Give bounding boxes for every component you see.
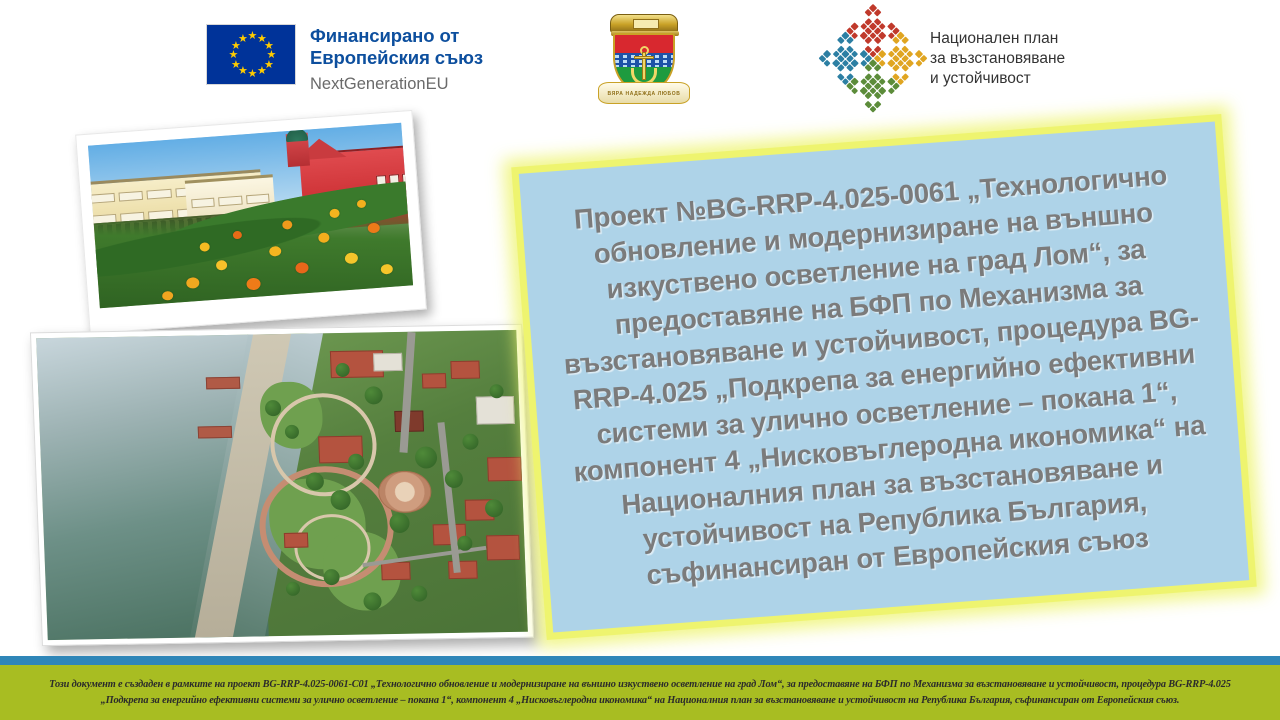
eu-star-icon: ★	[248, 32, 257, 41]
disclaimer-banner: Този документ е създаден в рамките на пр…	[0, 656, 1280, 720]
eu-star-icon: ★	[231, 61, 240, 70]
eu-star-icon: ★	[248, 70, 257, 79]
eu-star-icon: ★	[229, 51, 238, 60]
anchor-icon	[631, 46, 657, 86]
eu-star-icon: ★	[238, 35, 247, 44]
eu-funding-logo: ★★★★★★★★★★★★ Финансирано от Европейския …	[206, 24, 483, 95]
disclaimer-line2: „Подкрепа за енергийно ефективни системи…	[101, 693, 1180, 709]
eu-logo-line3: NextGenerationEU	[310, 73, 483, 95]
npvu-diamond-icon	[818, 4, 928, 114]
header-logo-row: ★★★★★★★★★★★★ Финансирано от Европейския …	[0, 0, 1280, 110]
npvu-line1: Национален план	[930, 29, 1065, 49]
eu-logo-line2: Европейския съюз	[310, 47, 483, 69]
town-square-image	[88, 123, 413, 309]
panel-body: Проект №BG-RRP-4.025-0061 „Технологично …	[519, 121, 1250, 632]
eu-logo-line1: Финансирано от	[310, 25, 483, 47]
presentation-slide: ★★★★★★★★★★★★ Финансирано от Европейския …	[0, 0, 1280, 720]
coa-column-capital	[610, 14, 678, 33]
npvu-logo-text: Национален план за възстановяване и усто…	[930, 29, 1065, 89]
lom-coat-of-arms-icon: ВЯРА НАДЕЖДА ЛЮБОВ	[596, 14, 692, 106]
eu-logo-text: Финансирано от Европейския съюз NextGene…	[310, 24, 483, 95]
project-description-text: Проект №BG-RRP-4.025-0061 „Технологично …	[535, 154, 1233, 599]
banner-body: Този документ е създаден в рамките на пр…	[0, 665, 1280, 720]
coa-motto-banner: ВЯРА НАДЕЖДА ЛЮБОВ	[598, 82, 690, 104]
eu-flag-icon: ★★★★★★★★★★★★	[206, 24, 296, 85]
aerial-riverside-photo	[30, 324, 534, 646]
aerial-riverside-image	[36, 330, 528, 640]
disclaimer-line1: Този документ е създаден в рамките на пр…	[49, 677, 1231, 693]
eu-star-icon: ★	[257, 67, 266, 76]
npvu-line3: и устойчивост	[930, 69, 1065, 89]
banner-blue-stripe	[0, 656, 1280, 665]
npvu-logo: Национален план за възстановяване и усто…	[834, 20, 1065, 98]
town-square-photo	[75, 110, 427, 334]
npvu-line2: за възстановяване	[930, 49, 1065, 69]
project-description-panel: Проект №BG-RRP-4.025-0061 „Технологично …	[511, 114, 1257, 640]
